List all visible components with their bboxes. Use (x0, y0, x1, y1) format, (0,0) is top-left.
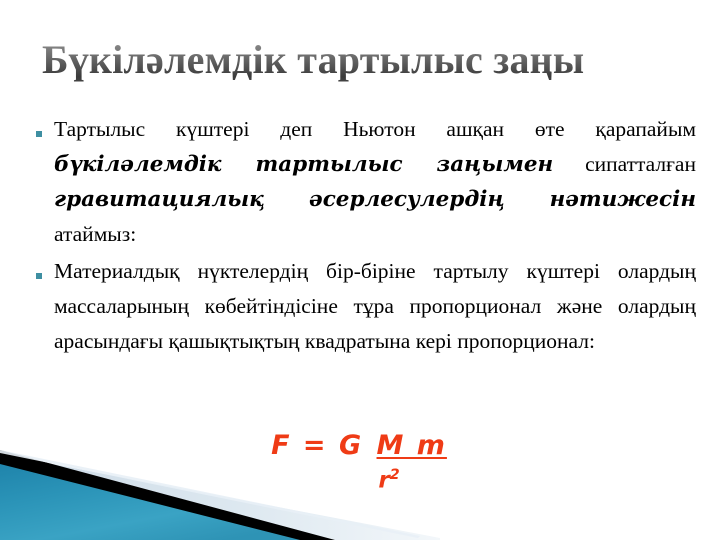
bullet-text-1: Тартылыс күштері деп Ньютон ашқан өте қа… (54, 112, 696, 252)
list-item: Тартылыс күштері деп Ньютон ашқан өте қа… (36, 112, 696, 252)
title-area: Бүкіләлемдік тартылыс заңы (42, 34, 682, 94)
formula-denominator-exponent: 2 (390, 467, 400, 483)
bullet-1-segment-2: бүкіләлемдік тартылыс заңымен (54, 152, 553, 177)
decorative-ribbon (0, 420, 720, 540)
ribbon-highlight-sliver (0, 450, 420, 538)
square-bullet-icon (36, 112, 54, 142)
formula-left-side: F = G (271, 430, 363, 461)
formula-numerator: M m (375, 430, 449, 461)
ribbon-black-band (0, 450, 335, 540)
bullet-text-2: Материалдық нүктелердің бір-біріне тарты… (54, 254, 696, 359)
formula-line-denominator: r2 (58, 467, 720, 494)
formula-line-numerator: F = G M m (0, 430, 720, 461)
bullet-1-segment-5: атаймыз: (54, 222, 136, 246)
list-item: Материалдық нүктелердің бір-біріне тарты… (36, 254, 696, 359)
square-bullet-icon (36, 254, 54, 284)
bullet-1-segment-4: гравитациялық әсерлесулердің нәтижесін (54, 187, 696, 212)
bullet-1-segment-1: Тартылыс күштері деп Ньютон ашқан өте қа… (54, 117, 696, 141)
formula-denominator: r (378, 468, 389, 494)
ribbon-pale-band (0, 454, 440, 540)
ribbon-teal-band (0, 464, 300, 540)
page-title: Бүкіләлемдік тартылыс заңы (42, 34, 682, 86)
bullet-1-segment-3: сипатталған (553, 152, 696, 176)
slide-canvas: Бүкіләлемдік тартылыс заңы Тартылыс күшт… (0, 0, 720, 540)
slide-body: Тартылыс күштері деп Ньютон ашқан өте қа… (36, 112, 696, 361)
formula-block: F = G M m r2 (0, 430, 720, 494)
